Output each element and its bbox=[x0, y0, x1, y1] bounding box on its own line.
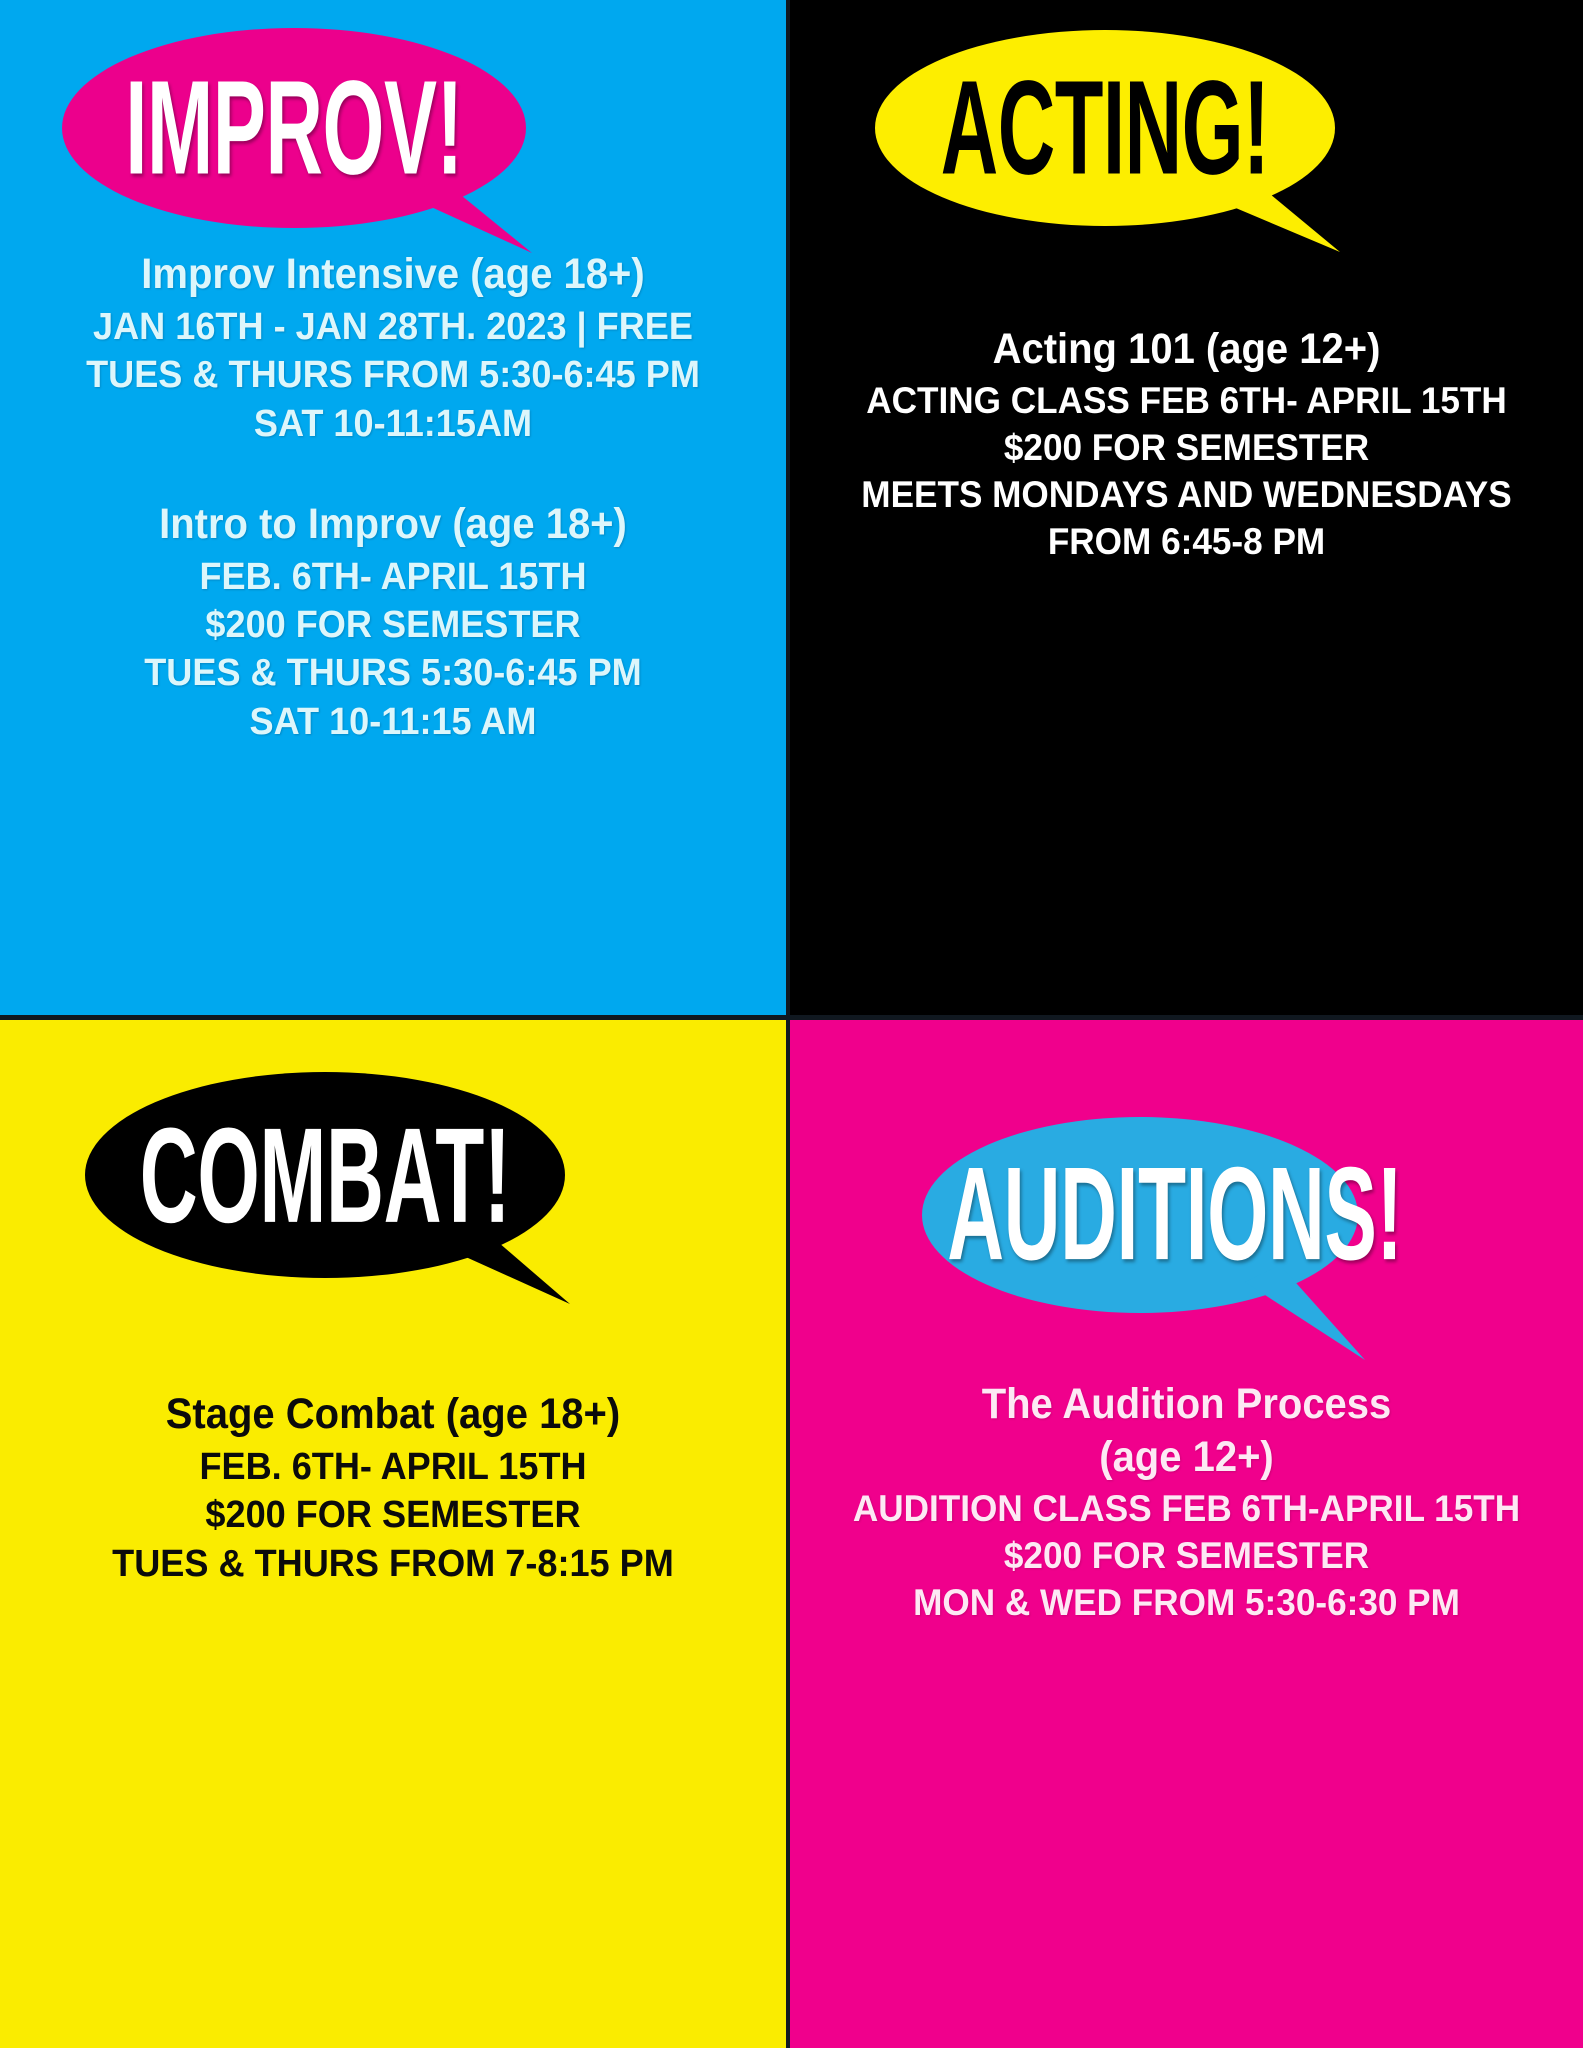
quadrant-auditions: AUDITIONS! The Audition Process (age 12+… bbox=[790, 1020, 1583, 2048]
course-line: SAT 10-11:15 AM bbox=[33, 698, 753, 746]
course-intro-to-improv: Intro to Improv (age 18+) FEB. 6TH- APRI… bbox=[14, 500, 772, 746]
acting-speech-bubble: ACTING! bbox=[875, 30, 1375, 255]
acting-bubble-label: ACTING! bbox=[916, 0, 1293, 263]
combat-course-list: Stage Combat (age 18+) FEB. 6TH- APRIL 1… bbox=[0, 1390, 786, 1594]
course-line: FEB. 6TH- APRIL 15TH bbox=[33, 553, 753, 601]
improv-course-list: Improv Intensive (age 18+) JAN 16TH - JA… bbox=[0, 250, 786, 752]
auditions-course-list: The Audition Process (age 12+) AUDITION … bbox=[790, 1380, 1583, 1633]
course-title-line-1: The Audition Process bbox=[831, 1380, 1542, 1429]
course-line: TUES & THURS FROM 7-8:15 PM bbox=[33, 1540, 753, 1588]
combat-bubble-label: COMBAT! bbox=[128, 1033, 522, 1317]
speech-bubble-shape bbox=[85, 1072, 605, 1307]
quadrant-combat: COMBAT! Stage Combat (age 18+) FEB. 6TH-… bbox=[0, 1020, 790, 2048]
course-title: Improv Intensive (age 18+) bbox=[41, 250, 746, 299]
course-line: ACTING CLASS FEB 6TH- APRIL 15TH bbox=[823, 378, 1550, 425]
class-schedule-poster: IMPROV! Improv Intensive (age 18+) JAN 1… bbox=[0, 0, 1583, 2048]
improv-bubble-label: IMPROV! bbox=[104, 0, 484, 266]
auditions-bubble-label: AUDITIONS! bbox=[944, 1070, 1390, 1360]
course-line: FEB. 6TH- APRIL 15TH bbox=[33, 1443, 753, 1491]
course-line: MON & WED FROM 5:30-6:30 PM bbox=[823, 1580, 1550, 1627]
quadrant-improv: IMPROV! Improv Intensive (age 18+) JAN 1… bbox=[0, 0, 790, 1020]
course-line: TUES & THURS 5:30-6:45 PM bbox=[33, 649, 753, 697]
quadrant-acting: ACTING! Acting 101 (age 12+) ACTING CLAS… bbox=[790, 0, 1583, 1020]
course-line: FROM 6:45-8 PM bbox=[823, 519, 1550, 566]
auditions-speech-bubble: AUDITIONS! bbox=[895, 1110, 1455, 1360]
course-acting-101: Acting 101 (age 12+) ACTING CLASS FEB 6T… bbox=[804, 325, 1569, 566]
course-line: AUDITION CLASS FEB 6TH-APRIL 15TH bbox=[823, 1486, 1550, 1533]
speech-bubble-shape bbox=[62, 28, 562, 253]
improv-speech-bubble: IMPROV! bbox=[62, 28, 562, 253]
course-title: Acting 101 (age 12+) bbox=[831, 325, 1542, 374]
course-title: Stage Combat (age 18+) bbox=[41, 1390, 746, 1439]
course-improv-intensive: Improv Intensive (age 18+) JAN 16TH - JA… bbox=[14, 250, 772, 448]
course-line: TUES & THURS FROM 5:30-6:45 PM bbox=[33, 351, 753, 399]
course-line: JAN 16TH - JAN 28TH. 2023 | FREE bbox=[33, 303, 753, 351]
course-line: $200 FOR SEMESTER bbox=[33, 1491, 753, 1539]
course-title-line-2: (age 12+) bbox=[831, 1433, 1542, 1482]
speech-bubble-shape bbox=[875, 30, 1375, 255]
acting-course-list: Acting 101 (age 12+) ACTING CLASS FEB 6T… bbox=[790, 325, 1583, 572]
speech-bubble-shape bbox=[895, 1110, 1455, 1360]
course-line: SAT 10-11:15AM bbox=[33, 400, 753, 448]
course-line: $200 FOR SEMESTER bbox=[33, 601, 753, 649]
course-title: Intro to Improv (age 18+) bbox=[41, 500, 746, 549]
course-line: MEETS MONDAYS AND WEDNESDAYS bbox=[823, 472, 1550, 519]
course-audition-process: The Audition Process (age 12+) AUDITION … bbox=[804, 1380, 1569, 1627]
course-line: $200 FOR SEMESTER bbox=[823, 1533, 1550, 1580]
course-line: $200 FOR SEMESTER bbox=[823, 425, 1550, 472]
course-stage-combat: Stage Combat (age 18+) FEB. 6TH- APRIL 1… bbox=[14, 1390, 772, 1588]
combat-speech-bubble: COMBAT! bbox=[85, 1072, 605, 1307]
